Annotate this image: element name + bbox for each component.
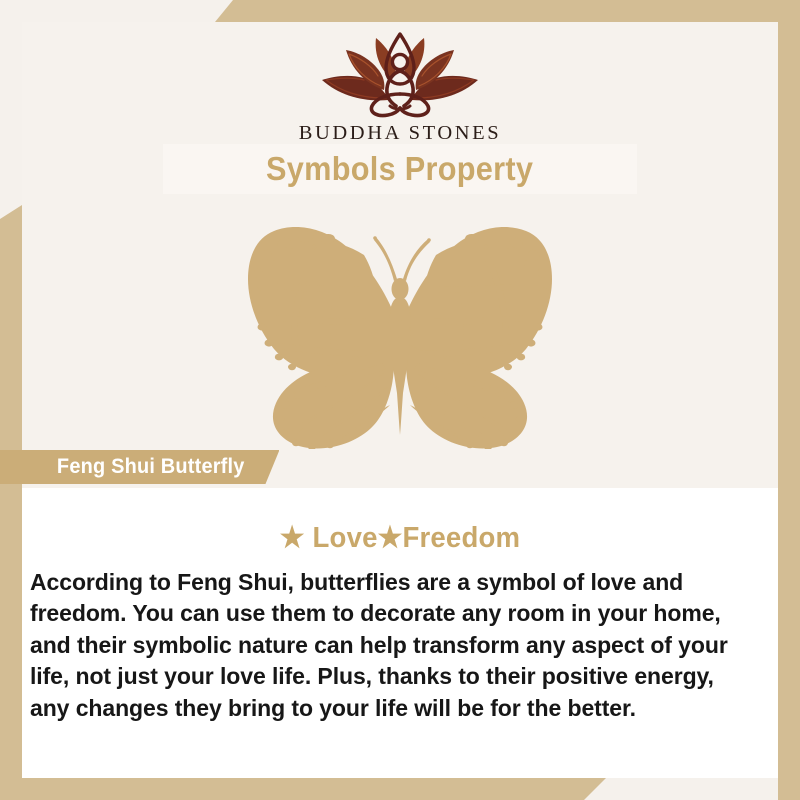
page-title: Symbols Property <box>266 150 533 188</box>
ribbon-label: Feng Shui Butterfly <box>57 455 245 479</box>
gold-frame-right <box>778 0 800 800</box>
description-panel: ★ Love★Freedom According to Feng Shui, b… <box>22 488 778 778</box>
love-freedom-subheading: ★ Love★Freedom <box>41 520 759 555</box>
monarch-butterfly-icon <box>214 217 586 449</box>
feng-shui-butterfly-ribbon: Feng Shui Butterfly <box>0 450 279 484</box>
lotus-meditation-figure-icon <box>310 28 490 120</box>
title-bar: Symbols Property <box>163 144 637 194</box>
content-canvas: BUDDHA STONES Symbols Property <box>22 22 778 778</box>
hero-illustration <box>22 212 778 454</box>
promo-banner-page: BUDDHA STONES Symbols Property <box>0 0 800 800</box>
gold-frame-top <box>215 0 800 22</box>
brand-name: BUDDHA STONES <box>299 122 502 145</box>
brand-logo: BUDDHA STONES <box>22 28 778 145</box>
gold-frame-left <box>0 205 22 800</box>
description-paragraph: According to Feng Shui, butterflies are … <box>30 567 745 724</box>
